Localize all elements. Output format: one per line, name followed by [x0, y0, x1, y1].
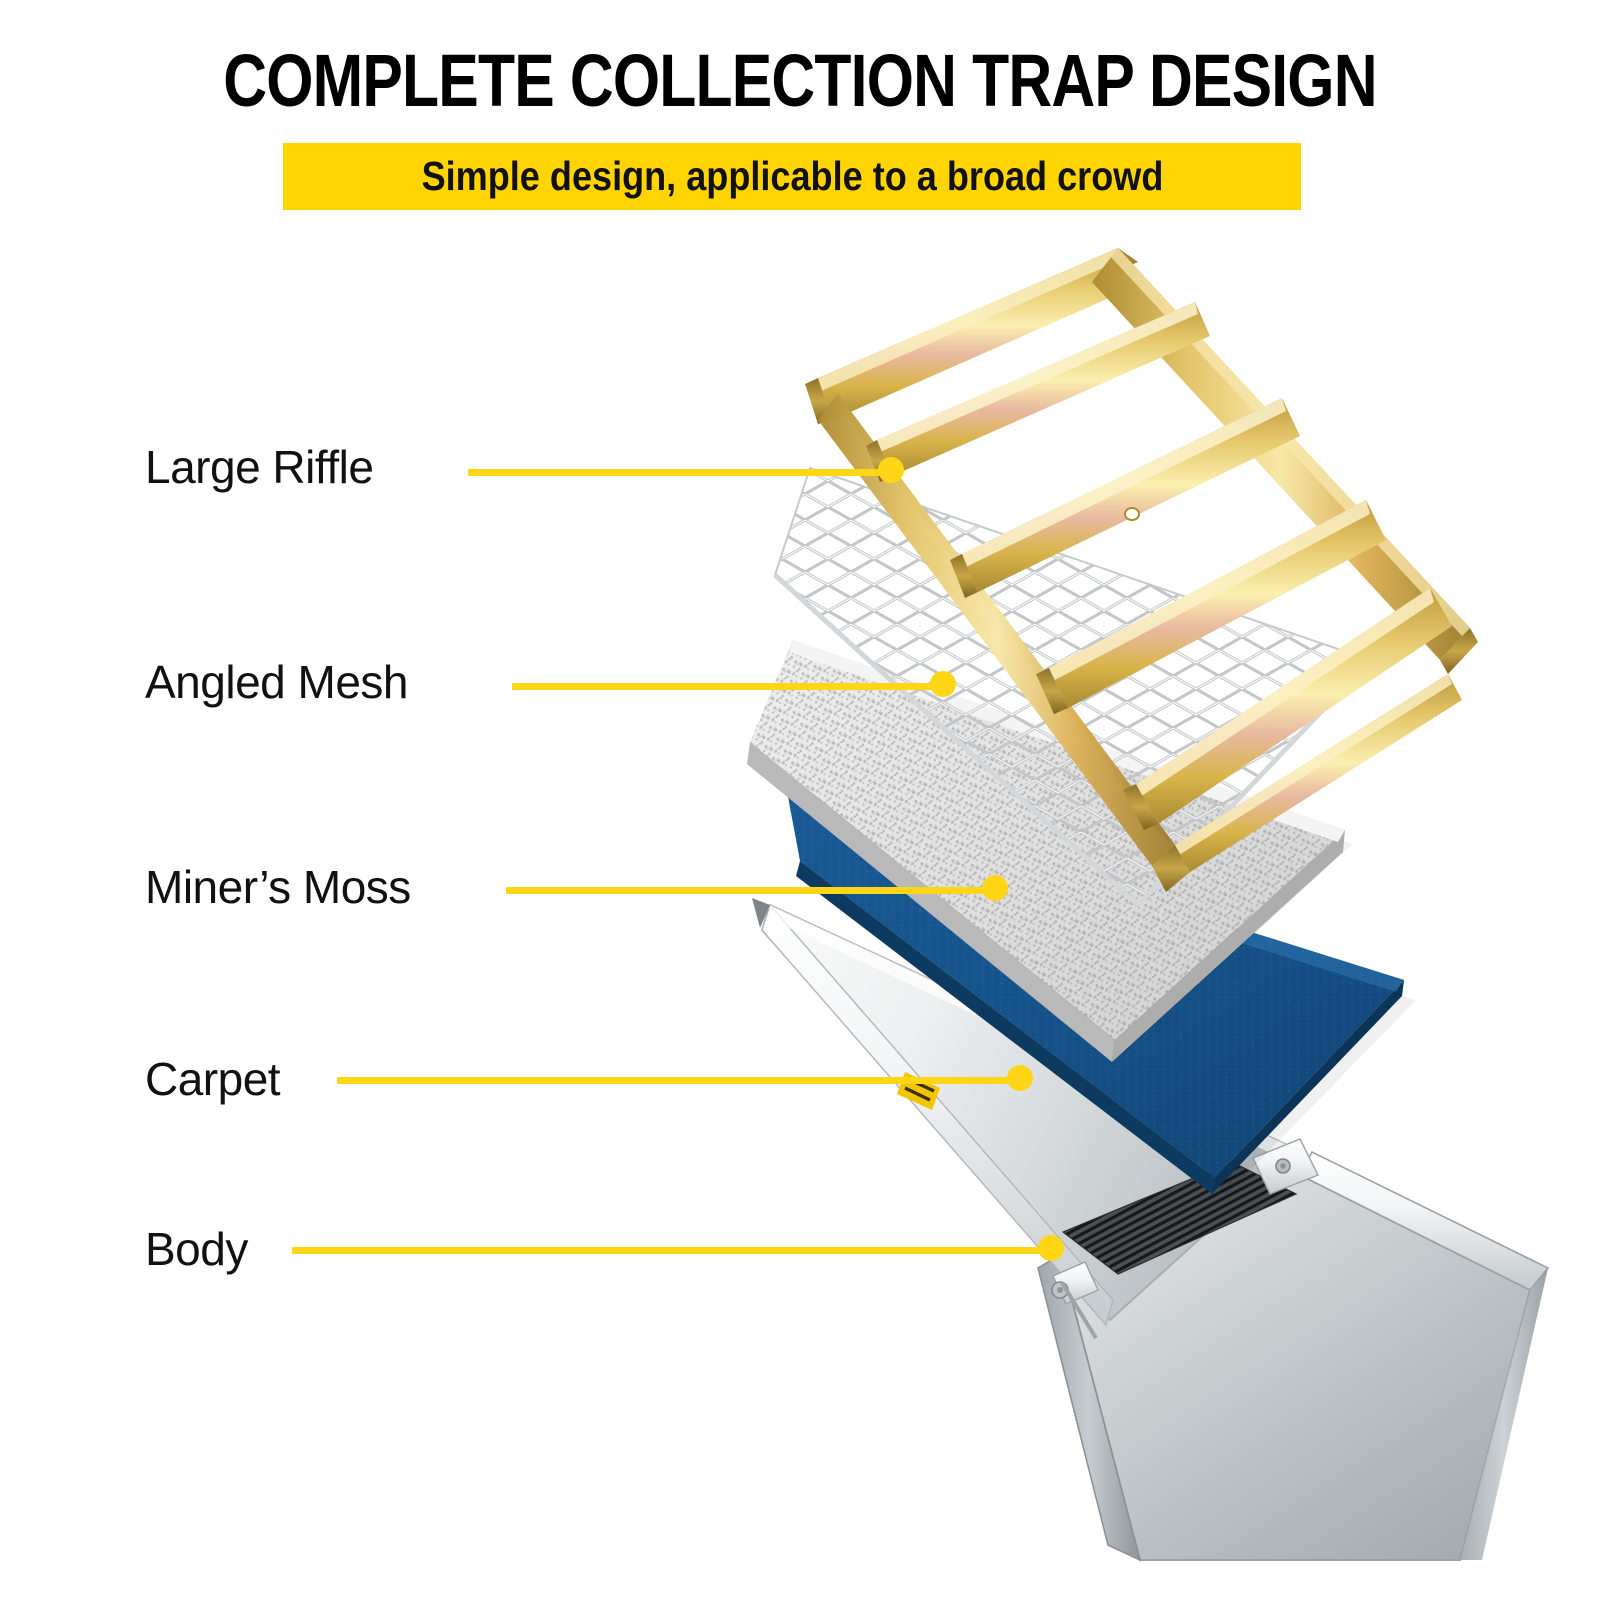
leader-dot-large-riffle — [878, 457, 904, 483]
leader-line-carpet — [337, 1077, 1009, 1084]
callout-label-angled-mesh: Angled Mesh — [145, 655, 408, 709]
exploded-diagram — [0, 0, 1600, 1600]
callout-label-large-riffle: Large Riffle — [145, 440, 373, 494]
riffle-rail-top — [805, 248, 1132, 424]
leader-line-angled-mesh — [512, 683, 932, 690]
subtitle-text: Simple design, applicable to a broad cro… — [421, 153, 1163, 200]
leader-line-body — [292, 1247, 1040, 1254]
leader-dot-miners-moss — [982, 875, 1008, 901]
leader-dot-angled-mesh — [930, 671, 956, 697]
callout-label-miners-moss: Miner’s Moss — [145, 860, 411, 914]
leader-line-miners-moss — [506, 887, 984, 894]
leader-dot-carpet — [1007, 1065, 1033, 1091]
product-illustration — [0, 0, 1600, 1600]
leader-line-large-riffle — [468, 469, 880, 476]
page-title: COMPLETE COLLECTION TRAP DESIGN — [144, 44, 1456, 118]
subtitle-banner: Simple design, applicable to a broad cro… — [283, 143, 1301, 210]
callout-label-body: Body — [145, 1222, 248, 1276]
leader-dot-body — [1038, 1235, 1064, 1261]
callout-label-carpet: Carpet — [145, 1052, 280, 1106]
